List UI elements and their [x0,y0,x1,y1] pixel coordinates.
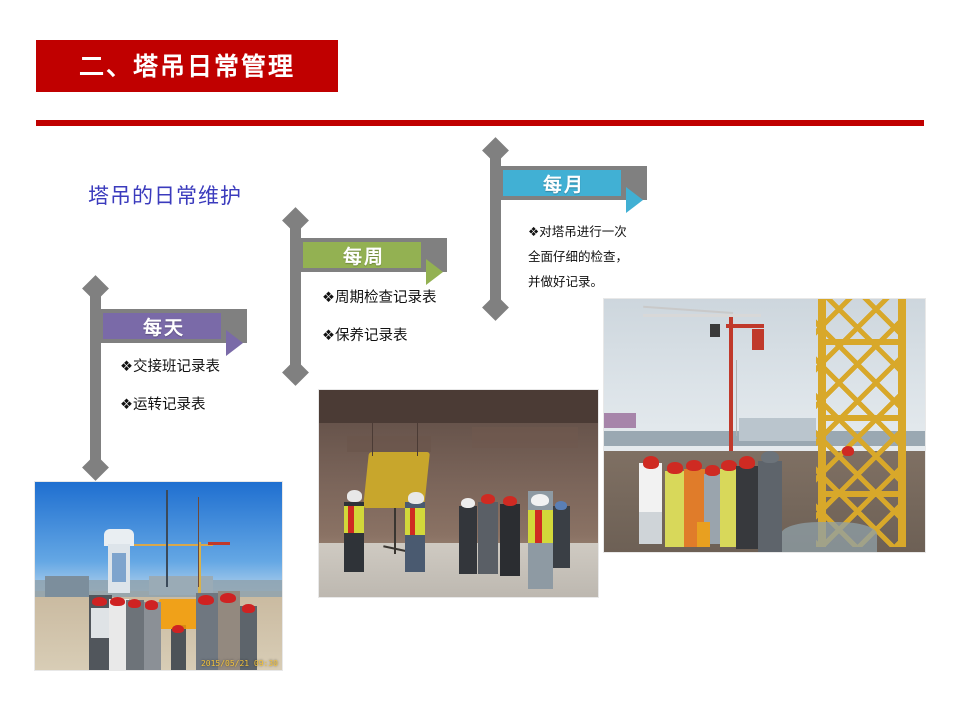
flag-label-monthly: 每月 [543,170,585,197]
photo-daily: 2015/05/21 09:30 [34,481,283,671]
signpost-flag-daily[interactable]: 每天 [99,309,247,343]
bullet-item: ❖交接班记录表 [120,360,220,375]
photo-weekly [318,389,599,598]
subtitle-text: 塔吊的日常维护 [88,180,242,210]
signpost-cap-bottom-monthly [482,294,509,321]
slide-canvas: 二、塔吊日常管理 塔吊的日常维护 每天 ❖交接班记录表 ❖运转记录表 [0,0,960,720]
bullet-item: ❖运转记录表 [120,398,220,413]
page-title: 二、塔吊日常管理 [79,54,295,79]
paragraph-line: 全面仔细的检查， [528,244,628,269]
paragraph-monthly: ❖对塔吊进行一次 全面仔细的检查， 并做好记录。 [528,219,628,294]
bullet-item: ❖周期检查记录表 [322,291,437,306]
bullet-item: ❖保养记录表 [322,329,437,344]
signpost-cap-bottom-weekly [282,359,309,386]
signpost-cap-top-daily [82,275,109,302]
flag-arrow-monthly [625,166,647,200]
header-divider [36,120,924,126]
bullets-daily: ❖交接班记录表 ❖运转记录表 [120,360,220,435]
signpost-flag-weekly[interactable]: 每周 [299,238,447,272]
bullets-weekly: ❖周期检查记录表 ❖保养记录表 [322,291,437,366]
flag-arrow-weekly [425,238,447,272]
paragraph-line: 并做好记录。 [528,269,628,294]
signpost-cap-bottom-daily [82,454,109,481]
section-title-block: 二、塔吊日常管理 [36,40,338,92]
signpost-flag-monthly[interactable]: 每月 [499,166,647,200]
paragraph-line: ❖对塔吊进行一次 [528,219,628,244]
photo-monthly [603,298,926,553]
signpost-cap-top-monthly [482,137,509,164]
signpost-cap-top-weekly [282,207,309,234]
flag-arrow-daily [225,309,247,343]
flag-label-daily: 每天 [143,313,185,340]
photo-timestamp: 2015/05/21 09:30 [201,659,278,668]
flag-label-weekly: 每周 [343,242,385,269]
